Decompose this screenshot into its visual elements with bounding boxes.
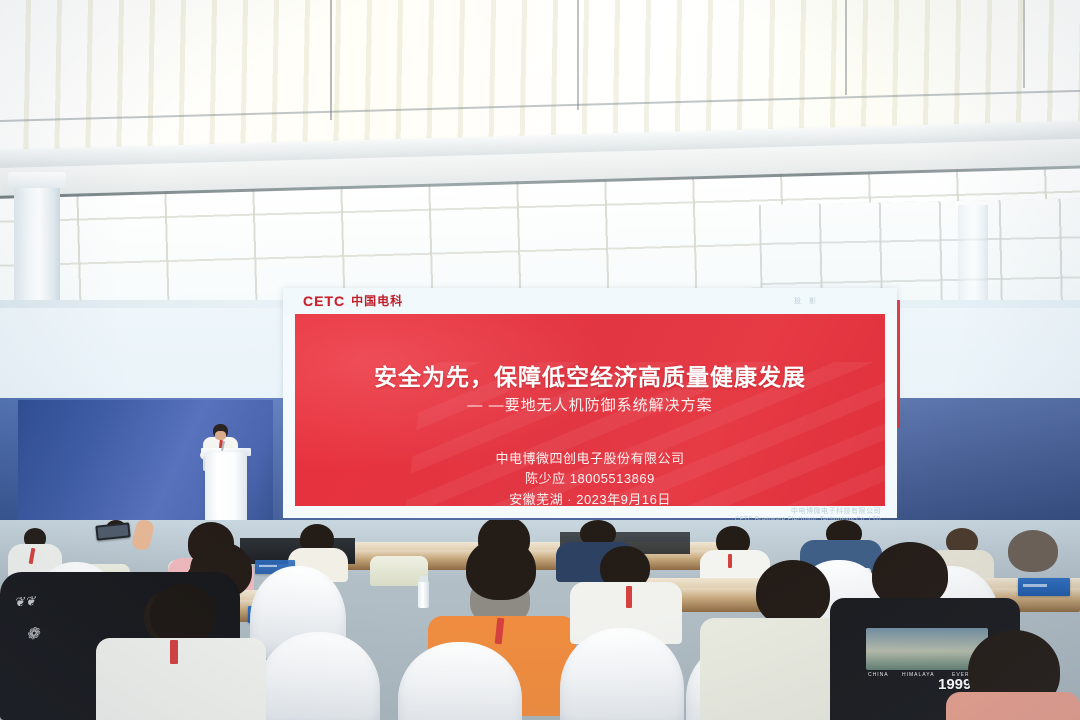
screen-footer-cn: 中电博微电子科技有限公司 bbox=[283, 508, 881, 517]
speaker-face bbox=[215, 431, 226, 440]
cetc-logo: CETC 中国电科 bbox=[303, 292, 403, 309]
attendee-head bbox=[150, 584, 216, 644]
slide-organization: 中电博微四创电子股份有限公司 bbox=[295, 448, 885, 467]
tshirt-year: 1999 bbox=[938, 676, 971, 693]
attendee-lanyard bbox=[728, 554, 732, 568]
attendee-lanyard bbox=[626, 586, 632, 608]
attendee-torso bbox=[96, 638, 266, 720]
ceiling-mullion-vertical bbox=[330, 0, 332, 120]
attendee-head bbox=[1008, 530, 1058, 572]
attendee-torso bbox=[946, 692, 1080, 720]
projection-screen[interactable]: CETC 中国电科 投 影 安全为先，保障低空经济高质量健康发展 — —要地无人… bbox=[283, 288, 897, 518]
jacket-graphic: ❁ bbox=[25, 624, 40, 645]
cetc-logo-mark: CETC bbox=[303, 293, 345, 309]
slide-location-date: 安徽芜湖 · 2023年9月16日 bbox=[295, 489, 885, 506]
column-capital bbox=[8, 172, 66, 188]
name-card bbox=[1018, 578, 1070, 596]
screen-top-right-mark: 投 影 bbox=[794, 296, 819, 306]
attendee-head bbox=[466, 538, 536, 600]
ceiling-mullion-vertical bbox=[1023, 0, 1025, 88]
ceiling-mullion-vertical bbox=[577, 0, 579, 110]
slide-subtitle: — —要地无人机防御系统解决方案 bbox=[295, 394, 885, 415]
tshirt-text-line1: CHINA bbox=[868, 672, 889, 678]
slide-presenter: 陈少应 18005513869 bbox=[295, 468, 885, 487]
bottle-cap bbox=[419, 576, 428, 582]
audience-area: ❦❦ ❁ CHINA HIMALAYA EVEREST 1999 bbox=[0, 520, 1080, 720]
attendee-lanyard bbox=[170, 640, 178, 664]
slide-title: 安全为先，保障低空经济高质量健康发展 bbox=[295, 358, 885, 392]
cetc-logo-wordmark: 中国电科 bbox=[351, 292, 403, 309]
attendee-head bbox=[756, 560, 830, 626]
water-bottle bbox=[418, 580, 429, 608]
ceiling-mullion-vertical bbox=[845, 0, 847, 95]
tshirt-text-line2: HIMALAYA bbox=[902, 672, 935, 678]
presentation-slide: 安全为先，保障低空经济高质量健康发展 — —要地无人机防御系统解决方案 中电博微… bbox=[295, 314, 885, 506]
jacket-graphic: ❦❦ bbox=[13, 593, 36, 610]
conference-photo: CETC 中国电科 投 影 安全为先，保障低空经济高质量健康发展 — —要地无人… bbox=[0, 0, 1080, 720]
screen-header-bar: CETC 中国电科 投 影 bbox=[283, 288, 897, 314]
